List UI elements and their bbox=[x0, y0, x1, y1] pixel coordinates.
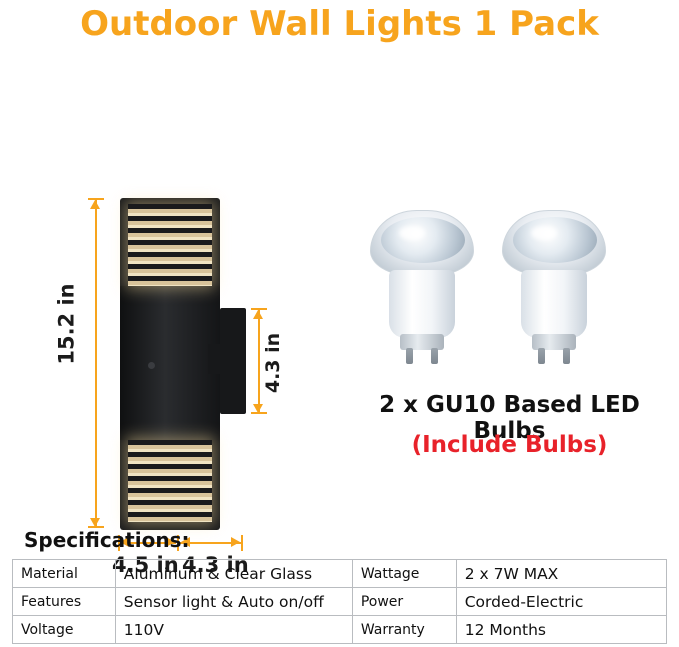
page-title: Outdoor Wall Lights 1 Pack bbox=[0, 4, 679, 44]
bulb-right-pin-1 bbox=[538, 348, 545, 364]
bulb-left-pin-1 bbox=[406, 348, 413, 364]
lamp-glass-top bbox=[128, 204, 212, 286]
bulb-right-body bbox=[521, 270, 587, 338]
height-dimension-label: 15.2 in bbox=[55, 283, 79, 364]
bulb-left-lens bbox=[381, 217, 465, 263]
height-dimension-line bbox=[95, 198, 97, 528]
depth-arrow-bottom-icon bbox=[253, 404, 263, 413]
depth-dimension-line bbox=[258, 308, 260, 414]
table-row: Material Aluminum & Clear Glass Wattage … bbox=[13, 560, 667, 588]
bracket-arrow-right-icon bbox=[231, 537, 240, 547]
spec-value: 2 x 7W MAX bbox=[456, 560, 666, 588]
table-row: Voltage 110V Warranty 12 Months bbox=[13, 616, 667, 644]
spec-value: 110V bbox=[115, 616, 352, 644]
bulb-left bbox=[370, 210, 474, 370]
bulb-left-head bbox=[370, 210, 474, 276]
height-arrow-bottom-icon bbox=[90, 518, 100, 527]
width-tick-right bbox=[241, 535, 243, 551]
spec-key: Power bbox=[352, 588, 456, 616]
spec-key: Material bbox=[13, 560, 116, 588]
spec-value: Aluminum & Clear Glass bbox=[115, 560, 352, 588]
lamp-middle-section bbox=[120, 286, 220, 440]
spec-value: Sensor light & Auto on/off bbox=[115, 588, 352, 616]
bulb-left-body bbox=[389, 270, 455, 338]
lamp-glass-bottom bbox=[128, 440, 212, 522]
spec-value: 12 Months bbox=[456, 616, 666, 644]
spec-key: Voltage bbox=[13, 616, 116, 644]
lamp-sensor-dot-icon bbox=[148, 362, 155, 369]
spec-value: Corded-Electric bbox=[456, 588, 666, 616]
specifications-table: Material Aluminum & Clear Glass Wattage … bbox=[12, 559, 667, 644]
specifications-heading: Specifications: bbox=[24, 528, 189, 552]
bulbs-include-note: (Include Bulbs) bbox=[340, 432, 679, 458]
spec-key: Wattage bbox=[352, 560, 456, 588]
bulb-right-lens bbox=[513, 217, 597, 263]
lamp-illustration: 15.2 in 4.3 in 4.5 in 4.3 in bbox=[0, 80, 330, 510]
depth-arrow-top-icon bbox=[253, 310, 263, 319]
spec-key: Warranty bbox=[352, 616, 456, 644]
bulb-left-pin-2 bbox=[431, 348, 438, 364]
depth-dimension-label: 4.3 in bbox=[262, 333, 284, 393]
bulb-right-pin-2 bbox=[563, 348, 570, 364]
spec-key: Features bbox=[13, 588, 116, 616]
table-row: Features Sensor light & Auto on/off Powe… bbox=[13, 588, 667, 616]
bulb-right bbox=[502, 210, 606, 370]
lamp-wall-bracket bbox=[220, 308, 246, 414]
bulb-right-head bbox=[502, 210, 606, 276]
height-arrow-top-icon bbox=[90, 200, 100, 209]
